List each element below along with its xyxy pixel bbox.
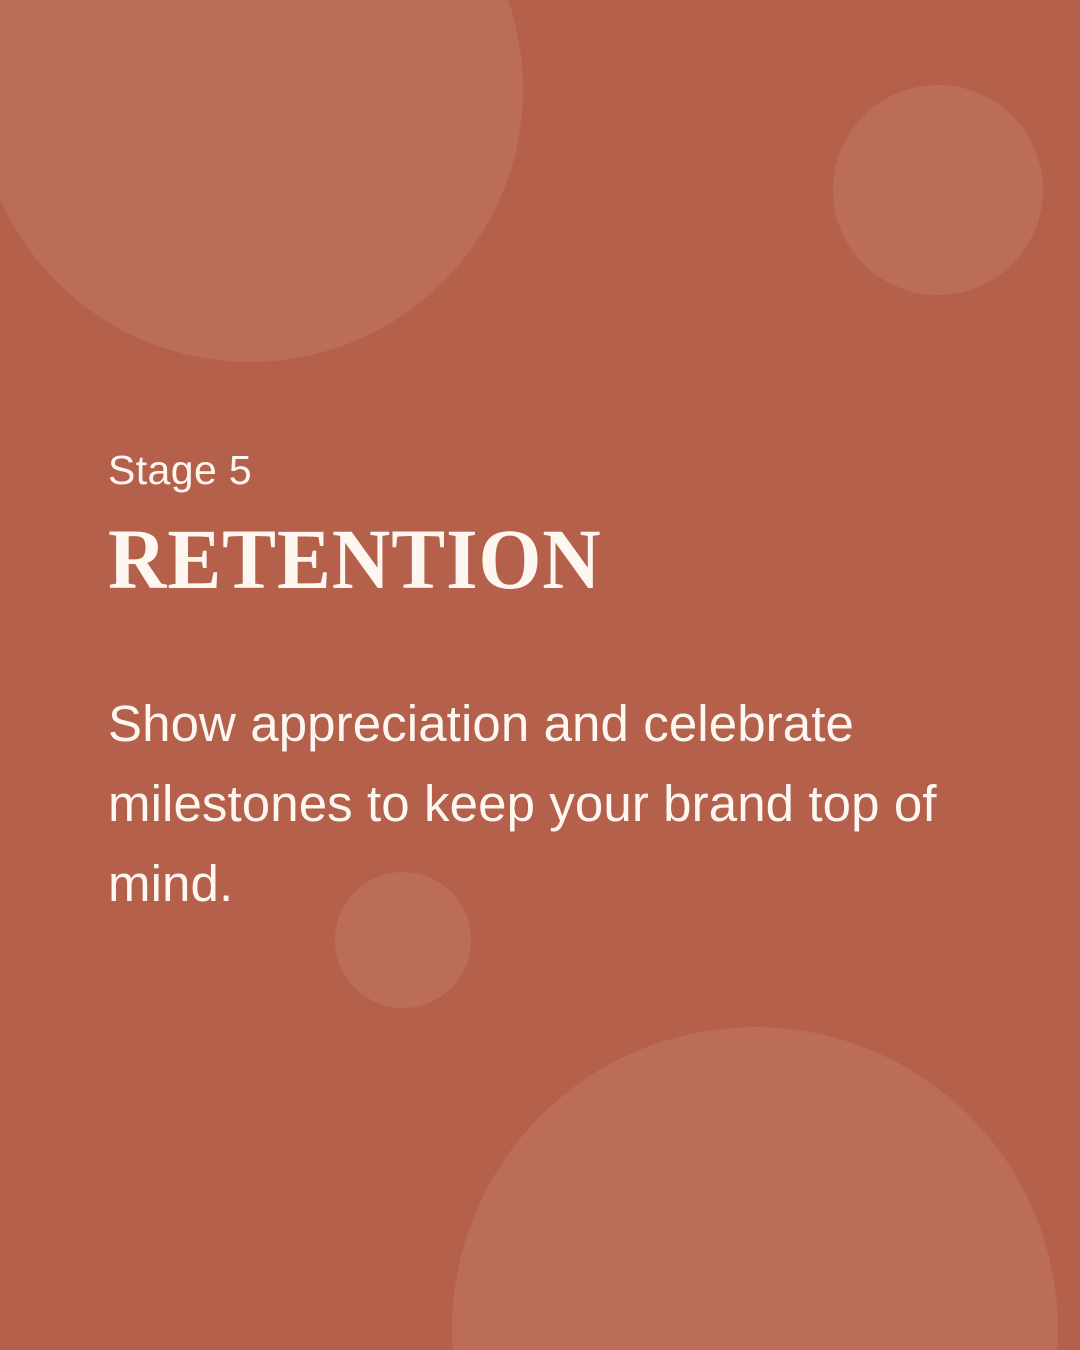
page-title: RETENTION	[108, 516, 602, 602]
social-slide-card: Stage 5 RETENTION Show appreciation and …	[0, 0, 1080, 1350]
slide-content: Stage 5 RETENTION Show appreciation and …	[108, 0, 1008, 1350]
stage-eyebrow-label: Stage 5	[108, 447, 252, 494]
body-description-text: Show appreciation and celebrate mileston…	[108, 684, 1003, 924]
